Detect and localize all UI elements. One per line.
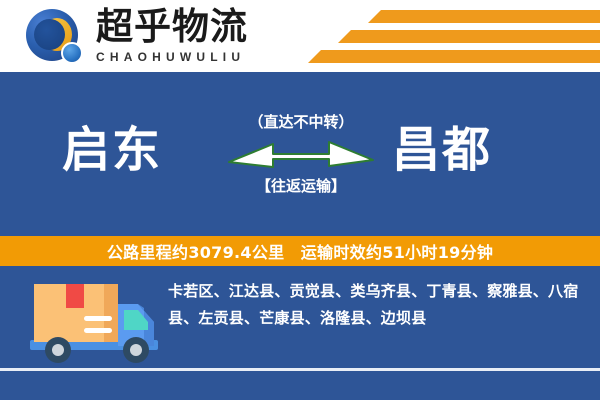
stripe-bottom [308,50,600,63]
logistics-route-banner: 超乎物流 CHAOHUWULIU 启东 （直达不中转） 【往返运输】 昌都 公路… [0,0,600,400]
stripe-middle [338,30,600,43]
route-middle-block: （直达不中转） 【往返运输】 [222,112,380,196]
bottom-divider [0,368,600,371]
destination-city-label: 昌都 [392,122,492,178]
banner-header: 超乎物流 CHAOHUWULIU [0,0,600,72]
double-headed-arrow-icon [225,138,377,170]
coverage-areas-block: 卡若区、江达县、贡觉县、类乌齐县、丁青县、察雅县、八宿县、左贡县、芒康县、洛隆县… [168,278,580,332]
brand-name-en: CHAOHUWULIU [96,49,276,65]
route-section: 启东 （直达不中转） 【往返运输】 昌都 [0,72,600,236]
delivery-truck-icon [26,278,160,370]
distance-duration-text: 公路里程约3079.4公里 运输时效约51小时19分钟 [107,239,493,263]
coverage-section: 卡若区、江达县、贡觉县、类乌齐县、丁青县、察雅县、八宿县、左贡县、芒康县、洛隆县… [0,266,600,400]
logo-crescent-cutout-shape [34,19,65,50]
double-headed-arrow-svg [225,138,377,170]
brand-name-cn: 超乎物流 [96,6,276,48]
brand-block: 超乎物流 CHAOHUWULIU [96,6,276,65]
coverage-areas-text: 卡若区、江达县、贡觉县、类乌齐县、丁青县、察雅县、八宿县、左贡县、芒康县、洛隆县… [168,278,580,332]
roundtrip-shipping-note: 【往返运输】 [222,176,380,196]
logo-dot-shape [61,42,83,64]
delivery-truck-svg [26,278,160,370]
origin-city-label: 启东 [62,122,162,178]
chaohu-logistics-logo-icon [26,9,88,67]
direct-shipping-note: （直达不中转） [222,112,380,132]
stripe-top [368,10,600,23]
distance-duration-bar: 公路里程约3079.4公里 运输时效约51小时19分钟 [0,236,600,266]
orange-speed-stripes-icon [290,8,600,68]
